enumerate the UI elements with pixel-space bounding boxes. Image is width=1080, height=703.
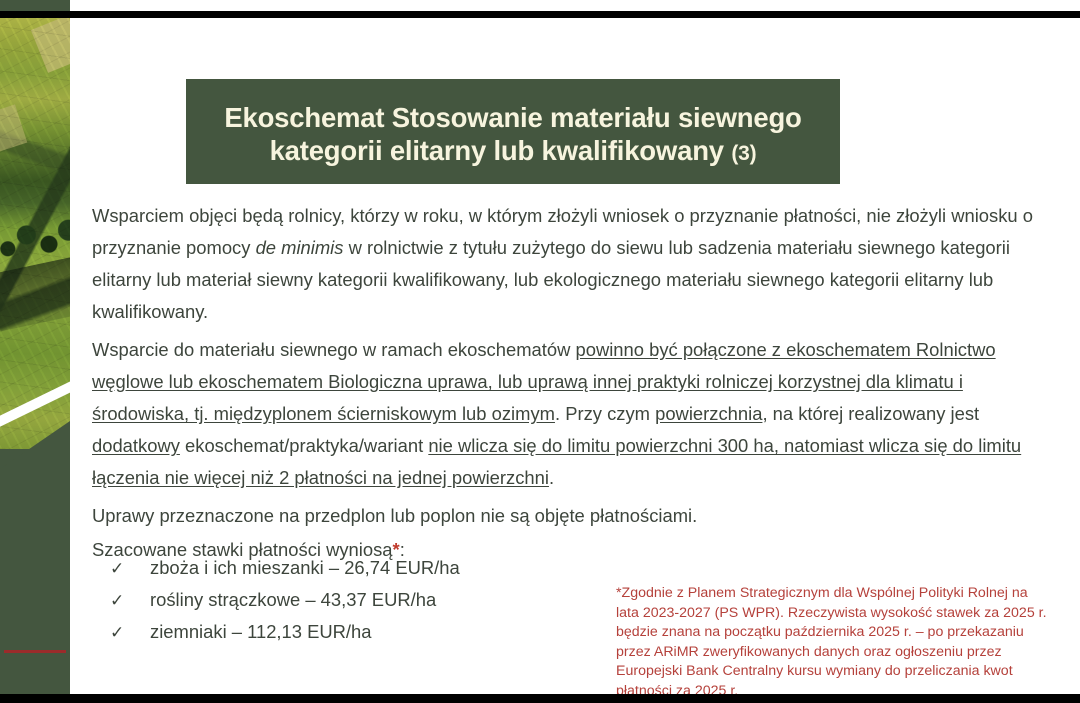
slide-title-line-1: Ekoschemat Stosowanie materiału siewnego <box>192 101 834 134</box>
list-item-label: rośliny strączkowe – 43,37 EUR/ha <box>150 584 630 615</box>
p2-underline-3: dodatkowy <box>92 435 180 456</box>
slide-title-box: Ekoschemat Stosowanie materiału siewnego… <box>186 79 840 184</box>
footnote-text: *Zgodnie z Planem Strategicznym dla Wspó… <box>616 584 1048 702</box>
sidebar-green-panel <box>0 421 70 694</box>
list-item-label: ziemniaki – 112,13 EUR/ha <box>150 616 630 647</box>
list-item: ✓ zboża i ich mieszanki – 26,74 EUR/ha <box>110 552 630 584</box>
bottom-letterbox-bar <box>0 694 1080 703</box>
payment-rates-list: ✓ zboża i ich mieszanki – 26,74 EUR/ha ✓… <box>110 552 630 648</box>
aerial-farmland-photo <box>0 17 70 449</box>
checkmark-icon: ✓ <box>110 553 150 584</box>
p2-part-e: . <box>549 467 554 488</box>
page-title: Ekoschemat Stosowanie materiału siewnego… <box>186 79 840 170</box>
p2-part-b: . Przy czym <box>555 403 655 424</box>
paragraph-1: Wsparciem objęci będą rolnicy, którzy w … <box>92 200 1048 328</box>
slide-title-suffix: (3) <box>731 142 756 165</box>
organization-name: Rolnictwa <box>0 612 70 627</box>
p2-underline-2: powierzchnia <box>655 403 762 424</box>
p2-part-c: , na której realizowany jest <box>762 403 979 424</box>
list-item-label: zboża i ich mieszanki – 26,74 EUR/ha <box>150 552 630 583</box>
slide-body: Wsparciem objęci będą rolnicy, którzy w … <box>92 200 1048 568</box>
slide-title-line-2: kategorii elitarny lub kwalifikowany <box>270 135 724 166</box>
list-item: ✓ rośliny strączkowe – 43,37 EUR/ha <box>110 584 630 616</box>
photo-texture-overlay <box>0 17 70 449</box>
p2-part-d: ekoschemat/praktyka/wariant <box>180 435 428 456</box>
p2-part-a: Wsparcie do materiału siewnego w ramach … <box>92 339 575 360</box>
organization-red-rule <box>4 650 66 653</box>
list-item: ✓ ziemniaki – 112,13 EUR/ha <box>110 616 630 648</box>
p1-italic-de-minimis: de minimis <box>256 237 344 258</box>
top-letterbox-bar <box>0 11 1080 18</box>
checkmark-icon: ✓ <box>110 617 150 648</box>
paragraph-2: Wsparcie do materiału siewnego w ramach … <box>92 334 1048 494</box>
checkmark-icon: ✓ <box>110 585 150 616</box>
slide-canvas: Rolnictwa Ekoschemat Stosowanie materiał… <box>0 0 1080 703</box>
left-decorative-strip <box>0 17 70 694</box>
paragraph-3: Uprawy przeznaczone na przedplon lub pop… <box>92 500 1048 532</box>
